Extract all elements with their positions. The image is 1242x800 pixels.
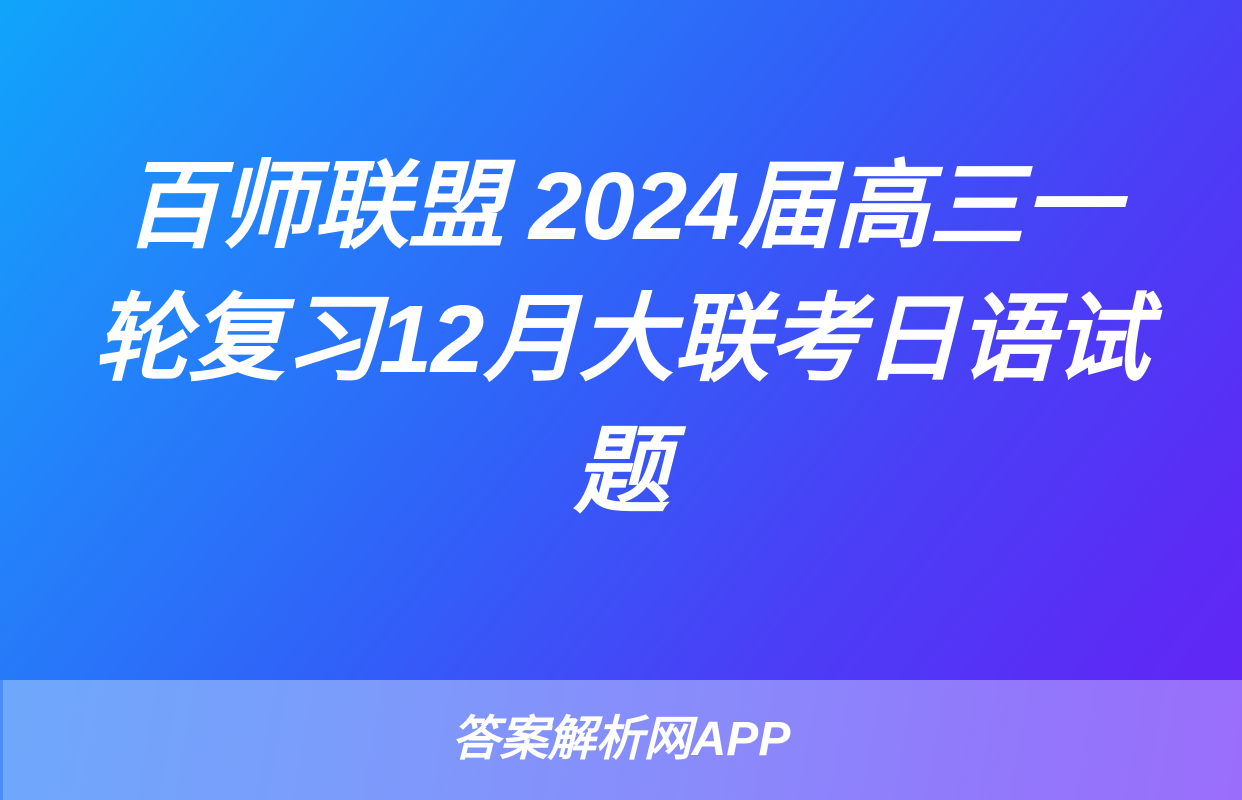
footer-watermark-band: 答案解析网APP xyxy=(0,680,1242,800)
app-watermark-label: 答案解析网APP xyxy=(452,716,791,764)
page-title: 百师联盟 2024届高三一轮复习12月大联考日语试题 xyxy=(76,141,1166,538)
title-block: 百师联盟 2024届高三一轮复习12月大联考日语试题 xyxy=(76,141,1166,538)
share-card: 百师联盟 2024届高三一轮复习12月大联考日语试题 答案解析网APP xyxy=(0,0,1242,800)
footer-left-edge xyxy=(0,680,3,800)
title-region: 百师联盟 2024届高三一轮复习12月大联考日语试题 xyxy=(0,0,1242,680)
